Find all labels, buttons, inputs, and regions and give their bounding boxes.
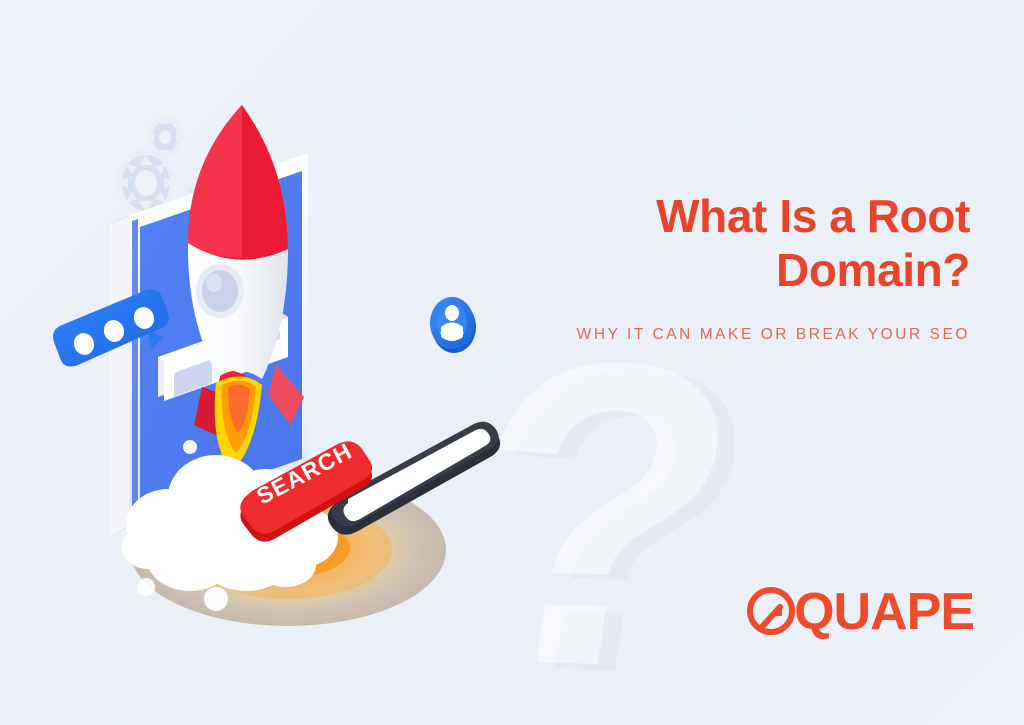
text-block: What Is a Root Domain? WHY IT CAN MAKE O…: [530, 190, 970, 344]
logo-wordmark: QUAPE: [794, 586, 974, 638]
headline-line-1: What Is a Root: [656, 190, 970, 242]
page-subtitle: WHY IT CAN MAKE OR BREAK YOUR SEO: [530, 326, 970, 344]
poster-canvas: ? ?: [0, 0, 1024, 725]
headline-line-2: Domain?: [776, 244, 970, 296]
seo-rocket-illustration: SEARCH: [40, 95, 540, 635]
page-title: What Is a Root Domain?: [530, 190, 970, 298]
quape-q-arrow-mark: [744, 584, 800, 640]
user-badge-icon: [430, 297, 476, 353]
quape-logo[interactable]: QUAPE: [744, 584, 974, 640]
